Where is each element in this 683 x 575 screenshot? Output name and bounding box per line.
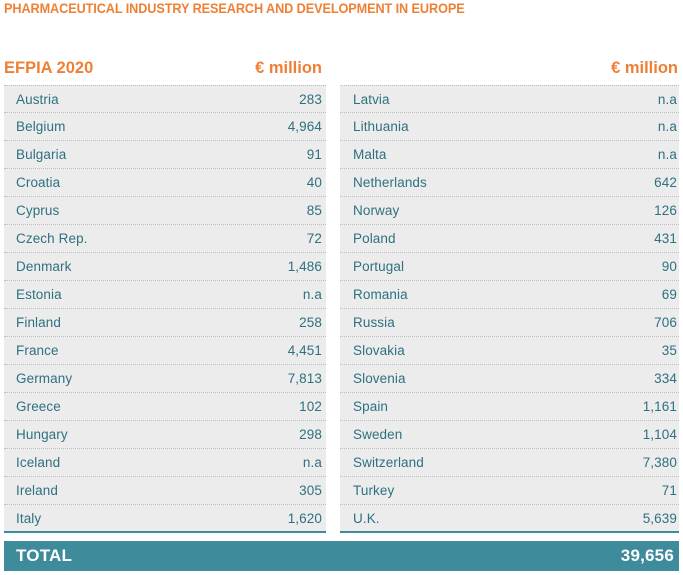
country-name: Romania (353, 287, 408, 302)
country-name: France (16, 343, 59, 358)
country-value: n.a (658, 119, 677, 134)
country-name: Croatia (16, 175, 60, 190)
country-name: Malta (353, 147, 387, 162)
country-value: 91 (307, 147, 322, 162)
country-name: Poland (353, 231, 396, 246)
country-value: 69 (662, 287, 677, 302)
header-units-left: € million (255, 58, 326, 78)
table-row: Maltan.a (340, 141, 679, 169)
country-value: 85 (307, 203, 322, 218)
table-row: Slovakia35 (340, 337, 679, 365)
country-value: 283 (299, 92, 322, 107)
country-name: U.K. (353, 511, 380, 526)
table-row: Norway126 (340, 197, 679, 225)
total-row: TOTAL 39,656 (4, 541, 679, 571)
country-value: 102 (299, 399, 322, 414)
country-value: n.a (658, 147, 677, 162)
country-name: Cyprus (16, 203, 59, 218)
table-row: France4,451 (4, 337, 326, 365)
table-row: Romania69 (340, 281, 679, 309)
country-value: 305 (299, 483, 322, 498)
country-value: n.a (303, 287, 322, 302)
table-header: EFPIA 2020 € million € million (4, 58, 679, 84)
country-name: Estonia (16, 287, 62, 302)
table-row: Croatia40 (4, 169, 326, 197)
country-value: 4,964 (288, 119, 322, 134)
country-name: Belgium (16, 119, 65, 134)
table-row: Belgium4,964 (4, 113, 326, 141)
table-row: Switzerland7,380 (340, 449, 679, 477)
country-value: 35 (662, 343, 677, 358)
country-name: Turkey (353, 483, 394, 498)
table-row: Germany7,813 (4, 365, 326, 393)
country-table-right: Latvian.aLithuanian.aMaltan.aNetherlands… (340, 85, 679, 533)
table-header-right: € million (340, 58, 679, 84)
table-row: Finland258 (4, 309, 326, 337)
country-value: 71 (662, 483, 677, 498)
country-value: n.a (303, 455, 322, 470)
country-value: 90 (662, 259, 677, 274)
total-label: TOTAL (16, 546, 72, 566)
country-name: Greece (16, 399, 61, 414)
country-name: Slovenia (353, 371, 406, 386)
country-name: Netherlands (353, 175, 427, 190)
country-name: Sweden (353, 427, 402, 442)
country-value: 5,639 (643, 511, 677, 526)
table-row: Lithuanian.a (340, 113, 679, 141)
country-value: 298 (299, 427, 322, 442)
country-name: Slovakia (353, 343, 405, 358)
country-name: Italy (16, 511, 41, 526)
table-row: Sweden1,104 (340, 421, 679, 449)
table-row: Hungary298 (4, 421, 326, 449)
data-tables: Austria283Belgium4,964Bulgaria91Croatia4… (4, 85, 679, 533)
country-value: 431 (654, 231, 677, 246)
country-value: 1,486 (288, 259, 322, 274)
table-row: Slovenia334 (340, 365, 679, 393)
country-value: 40 (307, 175, 322, 190)
table-column-divider (326, 85, 340, 533)
header-efpia-label: EFPIA 2020 (4, 58, 93, 78)
table-row: Turkey71 (340, 477, 679, 505)
country-name: Denmark (16, 259, 71, 274)
country-value: 1,104 (643, 427, 677, 442)
table-row: Italy1,620 (4, 505, 326, 533)
header-gap (326, 58, 340, 84)
table-row: Cyprus85 (4, 197, 326, 225)
table-row: Denmark1,486 (4, 253, 326, 281)
table-row: Poland431 (340, 225, 679, 253)
country-value: 642 (654, 175, 677, 190)
table-row: U.K.5,639 (340, 505, 679, 533)
country-name: Finland (16, 315, 61, 330)
table-header-left: EFPIA 2020 € million (4, 58, 326, 84)
country-name: Lithuania (353, 119, 409, 134)
country-name: Germany (16, 371, 72, 386)
country-name: Latvia (353, 92, 390, 107)
table-row: Czech Rep.72 (4, 225, 326, 253)
country-value: 1,620 (288, 511, 322, 526)
country-value: 1,161 (643, 399, 677, 414)
country-value: 4,451 (288, 343, 322, 358)
country-value: 7,380 (643, 455, 677, 470)
country-name: Iceland (16, 455, 60, 470)
table-row: Estonian.a (4, 281, 326, 309)
total-value: 39,656 (621, 546, 675, 566)
country-name: Bulgaria (16, 147, 66, 162)
country-name: Portugal (353, 259, 404, 274)
country-name: Spain (353, 399, 388, 414)
table-row: Netherlands642 (340, 169, 679, 197)
table-row: Spain1,161 (340, 393, 679, 421)
header-units-right: € million (611, 58, 679, 78)
country-name: Norway (353, 203, 399, 218)
country-name: Russia (353, 315, 395, 330)
country-value: n.a (658, 92, 677, 107)
table-row: Icelandn.a (4, 449, 326, 477)
table-row: Russia706 (340, 309, 679, 337)
table-row: Greece102 (4, 393, 326, 421)
table-row: Austria283 (4, 85, 326, 113)
country-name: Czech Rep. (16, 231, 88, 246)
country-name: Switzerland (353, 455, 424, 470)
country-name: Austria (16, 92, 59, 107)
table-row: Ireland305 (4, 477, 326, 505)
country-name: Ireland (16, 483, 58, 498)
table-row: Portugal90 (340, 253, 679, 281)
country-value: 126 (654, 203, 677, 218)
country-value: 334 (654, 371, 677, 386)
country-value: 706 (654, 315, 677, 330)
table-row: Latvian.a (340, 85, 679, 113)
country-value: 7,813 (288, 371, 322, 386)
country-value: 72 (307, 231, 322, 246)
country-name: Hungary (16, 427, 68, 442)
page-title: PHARMACEUTICAL INDUSTRY RESEARCH AND DEV… (4, 1, 465, 16)
country-value: 258 (299, 315, 322, 330)
country-table-left: Austria283Belgium4,964Bulgaria91Croatia4… (4, 85, 326, 533)
table-row: Bulgaria91 (4, 141, 326, 169)
